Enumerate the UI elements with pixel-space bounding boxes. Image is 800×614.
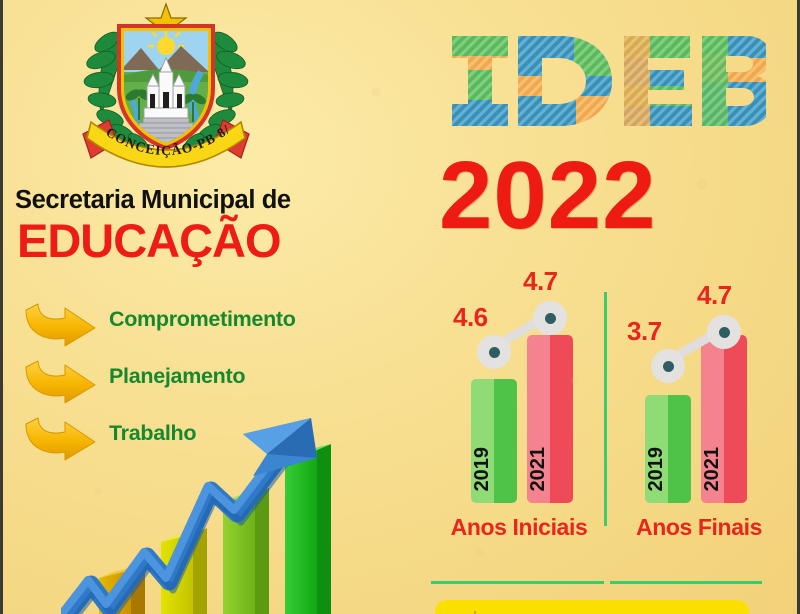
ideb-wordmark	[446, 28, 766, 148]
value-2021-iniciais: 4.7	[523, 266, 558, 297]
growth-bar-4	[285, 444, 331, 614]
secretaria-line: Secretaria Municipal de	[15, 186, 291, 215]
educacao-title: EDUCAÇÃO	[17, 216, 281, 265]
group-label-anos-finais: Anos Finais	[617, 514, 781, 541]
bar-year-label: 2021	[527, 447, 573, 492]
group-label-anos-iniciais: Anos Iniciais	[431, 514, 607, 541]
ideb-year: 2022	[439, 148, 657, 244]
marker-2021-iniciais	[533, 301, 567, 335]
value-label: Comprometimento	[109, 307, 296, 332]
growth-chart-graphic	[61, 330, 441, 614]
bar-year-label: 2021	[701, 447, 747, 492]
ideb-comparison-chart: 2019 2021 4.6 4.7 Anos Iniciais 2019	[427, 296, 787, 541]
chart-group-anos-finais: 2019 2021 3.7 4.7 Anos Finais	[623, 303, 787, 503]
chart-group-anos-iniciais: 2019 2021 4.6 4.7 Anos Iniciais	[435, 303, 611, 503]
ideb-logo-icon	[446, 28, 766, 148]
value-2019-iniciais: 4.6	[453, 302, 488, 333]
bar-2021-finais: 2021	[701, 335, 747, 503]
value-2021-finais: 4.7	[697, 280, 732, 311]
bar-2019-finais: 2019	[645, 395, 691, 503]
marker-2019-finais	[651, 349, 685, 383]
coat-of-arms-icon: CONCEIÇÃO-PB 8/10/1881	[61, 2, 271, 177]
bar-year-label: 2019	[471, 447, 517, 492]
coat-of-arms: CONCEIÇÃO-PB 8/10/1881	[61, 2, 271, 177]
value-2019-finais: 3.7	[627, 316, 662, 347]
poster-root: CONCEIÇÃO-PB 8/10/1881 Secretaria Munici…	[0, 0, 800, 614]
marker-2019-iniciais	[477, 335, 511, 369]
chart-baseline-finais	[610, 581, 762, 584]
bottom-banner: ★	[435, 600, 749, 614]
marker-2021-finais	[707, 315, 741, 349]
bar-year-label: 2019	[645, 447, 691, 492]
bar-2019-iniciais: 2019	[471, 379, 517, 503]
chart-baseline-iniciais	[431, 581, 604, 584]
bar-2021-iniciais: 2021	[527, 335, 573, 503]
